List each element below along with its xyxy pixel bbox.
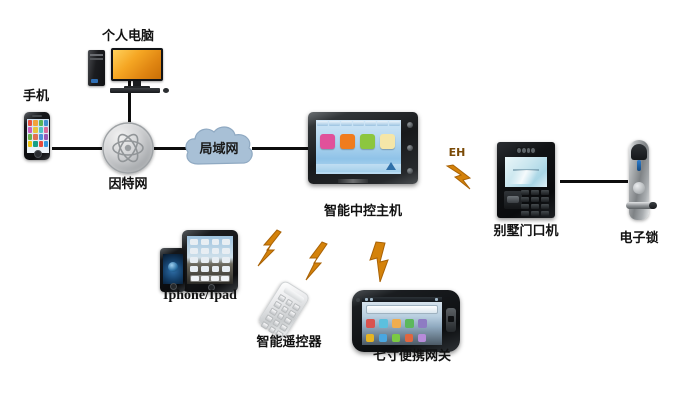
door-keypad-key[interactable]: [521, 211, 529, 216]
portable-gateway-label: 七寸便携网关: [357, 350, 467, 364]
host-tab[interactable]: [341, 121, 352, 126]
gateway-app-icon[interactable]: [366, 319, 375, 328]
link-phone-internet: [52, 147, 104, 150]
cloud-icon[interactable]: 局域网: [182, 122, 256, 174]
gateway-dock-icon[interactable]: [418, 334, 426, 342]
host-tab[interactable]: [317, 121, 328, 126]
ipad-dock-icon-3: [211, 276, 219, 281]
pc-monitor: [111, 48, 163, 81]
pc-tower: [88, 50, 105, 86]
door-keypad-key[interactable]: [531, 204, 539, 209]
host-button-1[interactable]: [407, 122, 413, 128]
door-keypad-key[interactable]: [531, 197, 539, 202]
ipad-device[interactable]: [182, 230, 238, 292]
iphone-device[interactable]: [160, 248, 185, 292]
remote-key[interactable]: [260, 321, 269, 330]
door-keypad[interactable]: [521, 190, 549, 216]
host-tab[interactable]: [389, 121, 400, 126]
phone-app-icon: [44, 134, 48, 140]
ipad-app-icon: [201, 239, 209, 245]
phone-app-icon: [28, 134, 32, 140]
phone-app-icon: [33, 120, 37, 126]
gateway-side-control[interactable]: [446, 308, 456, 332]
pc-drive-bay-2: [90, 58, 103, 60]
phone-app-icon: [33, 127, 37, 133]
door-keypad-key[interactable]: [521, 190, 529, 195]
internet-label: 因特网: [94, 178, 162, 192]
wireless-bolt-eh-icon: [444, 162, 486, 194]
link-door-lock: [560, 180, 628, 183]
gateway-dock-icon[interactable]: [392, 334, 400, 342]
phone-app-icon: [39, 120, 43, 126]
ipad-app-icon: [212, 248, 220, 254]
host-app-icon[interactable]: [340, 134, 355, 149]
ipad-app-icon: [212, 266, 220, 272]
gateway-status-icon-3: [435, 298, 438, 301]
wireless-bolt-gateway-icon: [364, 240, 398, 286]
lock-top-cap: [631, 144, 647, 160]
phone-home-button: [34, 150, 42, 158]
internet-globe-icon[interactable]: [102, 122, 154, 174]
ipad-app-icon: [190, 257, 198, 263]
remote-body: [257, 279, 311, 338]
door-ir-led-1: [517, 148, 521, 153]
door-fingerprint-pad: [507, 196, 519, 203]
door-ir-led-3: [527, 148, 531, 153]
phone-app-icon: [28, 141, 32, 147]
phone-app-icon: [44, 120, 48, 126]
ipad-dock-icon-1: [191, 276, 199, 281]
remote-control-icon[interactable]: [258, 282, 316, 334]
door-fingerprint-reader[interactable]: [504, 191, 522, 209]
tablet-phone-icon[interactable]: [160, 230, 238, 292]
host-tab-bar: [316, 120, 401, 127]
host-tab[interactable]: [377, 121, 388, 126]
gateway-search-bar[interactable]: [366, 305, 438, 314]
pc-logo: [91, 79, 98, 83]
gateway-app-icon[interactable]: [392, 319, 401, 328]
gateway-dock-icon[interactable]: [366, 334, 374, 342]
door-ir-led-2: [522, 148, 526, 153]
host-tab[interactable]: [353, 121, 364, 126]
remote-keypad[interactable]: [260, 294, 300, 339]
gateway-app-row: [366, 319, 438, 328]
ipad-app-icon: [222, 239, 230, 245]
iphone-screen: [163, 254, 183, 284]
host-play-triangle: [386, 162, 396, 170]
host-button-2[interactable]: [407, 145, 413, 151]
door-station-label: 别墅门口机: [480, 225, 572, 239]
door-screen-swoosh: [505, 170, 547, 184]
door-keypad-key[interactable]: [521, 197, 529, 202]
host-side-buttons[interactable]: [407, 122, 414, 174]
gateway-dpad: [448, 316, 454, 322]
electronic-lock-label: 电子锁: [604, 232, 674, 246]
phone-app-icon: [39, 134, 43, 140]
pc-keyboard: [110, 88, 160, 93]
door-keypad-key[interactable]: [541, 211, 549, 216]
ipad-app-icon: [201, 248, 209, 254]
wireless-bolt-remote-icon: [302, 240, 336, 286]
ipad-app-icon: [190, 266, 198, 272]
android-gateway-icon[interactable]: [352, 290, 460, 352]
phone-app-icon: [33, 141, 37, 147]
ipad-app-icon: [212, 257, 220, 263]
door-keypad-key[interactable]: [531, 190, 539, 195]
door-keypad-key[interactable]: [531, 211, 539, 216]
host-app-icon[interactable]: [360, 134, 375, 149]
door-keypad-key[interactable]: [541, 204, 549, 209]
ipad-app-icon: [222, 266, 230, 272]
ipad-dock-icon-4: [221, 276, 229, 281]
host-tab[interactable]: [329, 121, 340, 126]
ipad-dock-icon-2: [201, 276, 209, 281]
eh-link-label: EH: [442, 147, 472, 159]
phone-app-icon: [44, 141, 48, 147]
desktop-computer-icon[interactable]: [88, 48, 170, 94]
gateway-app-icon[interactable]: [379, 319, 388, 328]
door-ir-led-4: [531, 148, 535, 153]
gateway-status-icon-1: [365, 298, 368, 301]
host-brand-strip: [338, 179, 368, 183]
door-keypad-key[interactable]: [541, 190, 549, 195]
gateway-dock-row: [366, 334, 438, 342]
gateway-status-icon-2: [370, 298, 373, 301]
ipad-dock: [190, 275, 230, 282]
gateway-app-icon[interactable]: [405, 319, 414, 328]
phone-screen: [27, 119, 49, 153]
gateway-app-icon[interactable]: [418, 319, 427, 328]
central-host-label: 智能中控主机: [303, 205, 423, 219]
lock-indicator-led: [637, 160, 641, 171]
door-keypad-key[interactable]: [521, 204, 529, 209]
door-keypad-key[interactable]: [541, 197, 549, 202]
phone-app-icon: [33, 134, 37, 140]
phone-speaker: [32, 115, 42, 117]
host-app-icon[interactable]: [320, 134, 335, 149]
gateway-dock-icon[interactable]: [379, 334, 387, 342]
ipad-app-grid: [190, 239, 230, 272]
pc-monitor-screen: [113, 50, 161, 79]
phone-app-icon: [44, 127, 48, 133]
ipad-screen: [187, 236, 233, 284]
gateway-screen: [362, 297, 442, 345]
gateway-front-camera: [356, 298, 360, 302]
iphone-ipad-label: Iphone/Ipad: [148, 288, 252, 303]
touch-panel-icon[interactable]: [308, 112, 418, 184]
pc-drive-bay: [90, 54, 103, 56]
ipad-app-icon: [190, 239, 198, 245]
lan-label: 局域网: [182, 138, 256, 157]
personal-computer-label: 个人电脑: [78, 30, 178, 44]
ipad-app-icon: [190, 248, 198, 254]
host-app-icons: [320, 134, 397, 149]
pc-mouse: [163, 88, 169, 93]
host-button-3[interactable]: [407, 168, 413, 174]
phone-app-icon: [28, 120, 32, 126]
door-camera-array: [516, 147, 536, 154]
host-tab[interactable]: [365, 121, 376, 126]
lock-handle[interactable]: [626, 202, 656, 209]
wireless-bolt-ipad-icon: [255, 228, 291, 272]
link-lan-host: [252, 147, 308, 150]
lock-card-reader: [633, 182, 645, 194]
mobile-phone-icon[interactable]: [24, 112, 50, 160]
door-station-icon[interactable]: [497, 142, 555, 218]
smart-lock-icon[interactable]: [622, 140, 656, 226]
ipad-app-icon: [201, 266, 209, 272]
mobile-phone-label: 手机: [8, 90, 64, 104]
host-screen: [316, 120, 401, 174]
gateway-status-bar: [362, 297, 442, 302]
ipad-app-icon: [201, 257, 209, 263]
ipad-app-icon: [222, 257, 230, 263]
diagram-canvas: 手机 个人电脑: [0, 0, 700, 400]
door-screen: [505, 157, 547, 187]
phone-app-icon: [28, 127, 32, 133]
smart-remote-label: 智能遥控器: [243, 336, 335, 350]
phone-app-icon: [39, 141, 43, 147]
gateway-dock-icon[interactable]: [405, 334, 413, 342]
host-app-icon[interactable]: [380, 134, 395, 149]
ipad-app-icon: [222, 248, 230, 254]
ipad-app-icon: [212, 239, 220, 245]
phone-app-icon: [39, 127, 43, 133]
